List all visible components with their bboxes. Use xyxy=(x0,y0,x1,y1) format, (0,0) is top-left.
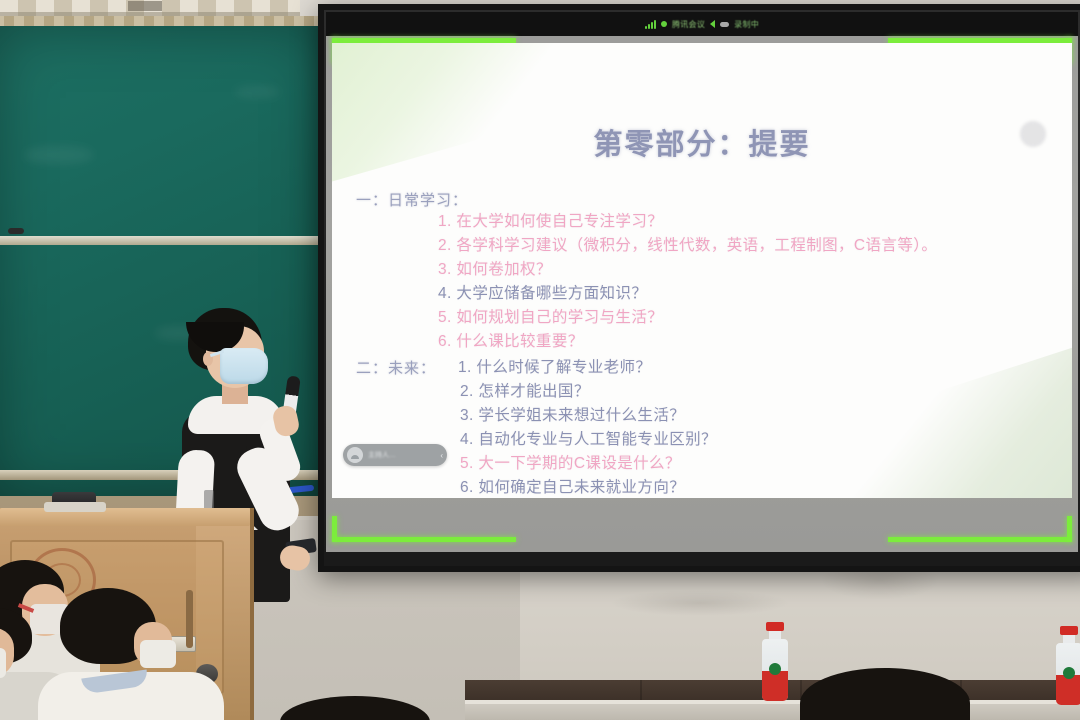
section-items: 1. 在大学如何使自己专注学习？ 2. 各学科学习建议（微积分，线性代数，英语，… xyxy=(438,210,1056,354)
list-item: 2. 怎样才能出国？ xyxy=(460,380,1056,404)
student xyxy=(800,668,990,720)
alignment-mark-bottom-left xyxy=(332,516,337,542)
signal-bars-icon xyxy=(645,20,656,29)
section-items: 2. 怎样才能出国？ 3. 学长学姐未来想过什么生活？ 4. 自动化专业与人工智… xyxy=(460,380,1056,498)
list-item: 3. 学长学姐未来想过什么生活？ xyxy=(460,404,1056,428)
wall-scuff xyxy=(610,590,790,616)
podium-paper xyxy=(44,502,106,512)
projector-screen[interactable]: 腾讯会议 录制中 第零部分：提要 一：日常学习： 1. 在大 xyxy=(326,12,1078,552)
classroom-scene: 理想 信念 道德 素质 " 大学 理 本： 详 情： 正确认 和 中 国 修 思… xyxy=(0,0,1080,720)
slide-section-daily-study: 一：日常学习： 1. 在大学如何使自己专注学习？ 2. 各学科学习建议（微积分，… xyxy=(356,188,1056,354)
presentation-slide[interactable]: 第零部分：提要 一：日常学习： 1. 在大学如何使自己专注学习？ 2. 各学科学… xyxy=(332,43,1072,498)
list-item: 4. 自动化专业与人工智能专业区别？ xyxy=(460,428,1056,452)
list-item: 5. 大一下学期的C课设是什么？ xyxy=(460,452,1056,476)
student xyxy=(280,696,430,720)
alignment-mark-bottom-right xyxy=(888,537,1072,542)
chevron-left-icon[interactable]: ‹ xyxy=(440,451,443,460)
meeting-app-name: 腾讯会议 xyxy=(672,19,705,30)
bottle-neck xyxy=(1063,635,1075,643)
chalk-smudge xyxy=(234,86,280,98)
user-avatar-icon xyxy=(347,447,363,463)
bottle-cap xyxy=(1060,626,1078,635)
section-label: 一：日常学习： xyxy=(356,188,1056,210)
bottle-cap xyxy=(766,622,784,631)
podium-top xyxy=(0,508,250,526)
water-bottle xyxy=(1056,626,1080,705)
bottle-body xyxy=(762,639,788,701)
microphone-icon xyxy=(661,21,667,27)
list-item: 5. 如何规划自己的学习与生活？ xyxy=(438,306,1056,330)
recording-status: 录制中 xyxy=(734,19,759,30)
slide-accent-top-left xyxy=(332,43,622,193)
participant-name: 主持人… xyxy=(368,450,435,460)
slide-title: 第零部分：提要 xyxy=(332,121,1072,163)
chalk-eraser xyxy=(8,228,24,234)
record-indicator-icon xyxy=(720,22,729,27)
meeting-participant-pill[interactable]: 主持人… ‹ xyxy=(343,444,447,466)
list-item: 1. 在大学如何使自己专注学习？ xyxy=(438,210,1056,234)
list-item: 6. 什么课比较重要？ xyxy=(438,330,1056,354)
student-face-mask xyxy=(0,648,6,678)
slide-body: 一：日常学习： 1. 在大学如何使自己专注学习？ 2. 各学科学习建议（微积分，… xyxy=(356,188,1056,498)
bottle-label xyxy=(762,671,788,701)
bottle-label xyxy=(1056,675,1080,705)
meeting-status-row: 腾讯会议 录制中 xyxy=(326,12,1078,36)
list-item: 3. 如何卷加权？ xyxy=(438,258,1056,282)
student-face-mask xyxy=(140,640,176,668)
speaker-icon xyxy=(710,20,715,28)
section-label: 二：未来： xyxy=(356,356,452,378)
list-item: 1. 什么时候了解专业老师？ xyxy=(458,356,651,380)
water-bottle xyxy=(762,622,788,701)
alignment-mark-bottom-left xyxy=(332,537,516,542)
slide-section-future: 二：未来： 1. 什么时候了解专业老师？ 2. 怎样才能出国？ 3. 学长学姐未… xyxy=(356,356,1056,498)
section-first-row: 二：未来： 1. 什么时候了解专业老师？ xyxy=(356,356,1056,380)
chalk-smudge xyxy=(24,146,94,164)
bottle-neck xyxy=(769,631,781,639)
alignment-mark-bottom-right xyxy=(1067,516,1072,542)
list-item: 4. 大学应储备哪些方面知识？ xyxy=(438,282,1056,306)
list-item: 6. 如何确定自己未来就业方向？ xyxy=(460,476,1056,498)
list-item: 2. 各学科学习建议（微积分，线性代数，英语，工程制图，C语言等）。 xyxy=(438,234,1056,258)
student-hair xyxy=(280,696,430,720)
ceiling-vent xyxy=(128,1,162,11)
presenter-face-mask xyxy=(220,348,268,384)
blackboard-middle-rail xyxy=(0,236,324,245)
student xyxy=(54,588,214,720)
bottle-body xyxy=(1056,643,1080,705)
student-hair xyxy=(800,668,970,720)
